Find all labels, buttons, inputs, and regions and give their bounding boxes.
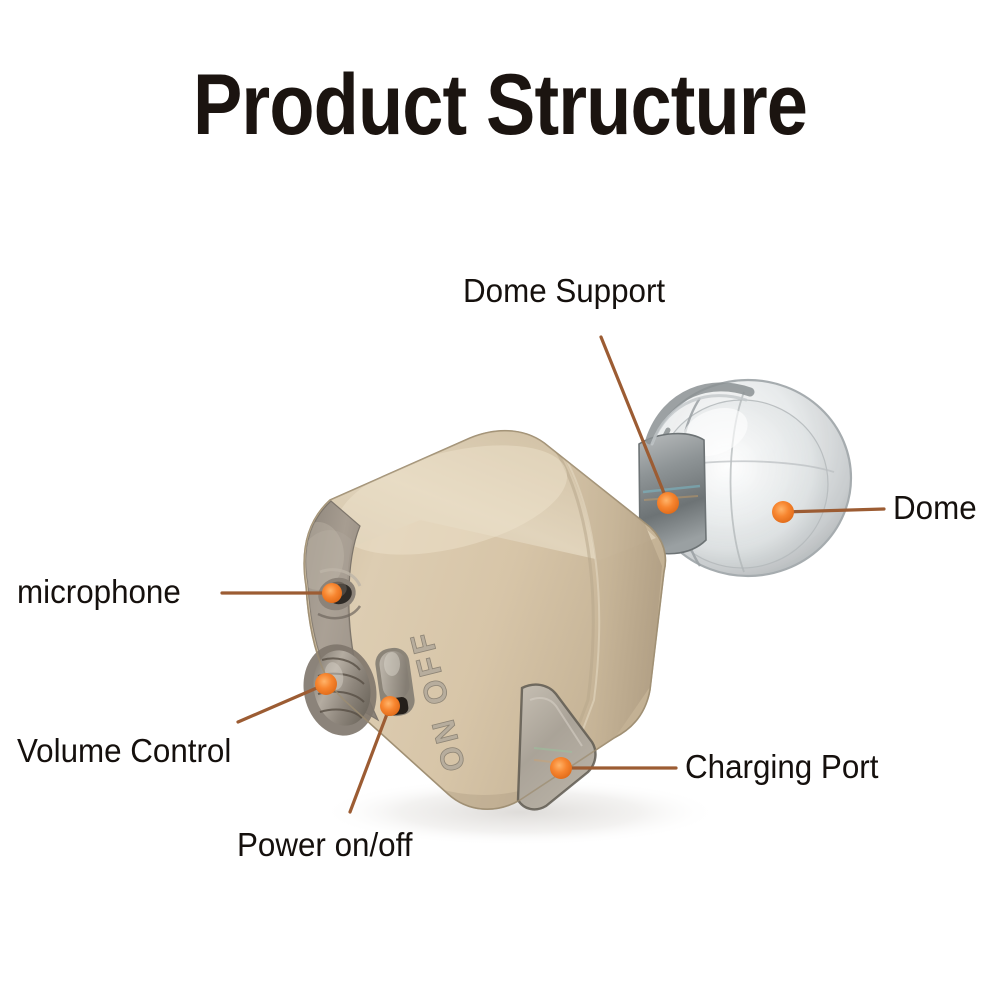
label-microphone: microphone [17,575,181,608]
dome-part [645,380,851,576]
device-body: ON OFF [288,425,665,824]
dome-support-part [639,387,750,554]
charging-port[interactable] [518,685,595,810]
callout-dot-dome [772,501,794,523]
callout-dot-volume [315,673,337,695]
label-volume-control: Volume Control [17,734,231,767]
label-dome-support: Dome Support [463,274,665,307]
power-switch[interactable] [373,646,416,718]
product-structure-diagram: Product Structure [0,0,1000,1000]
callout-dot-dome-support [657,492,679,514]
leader-line-dome [783,509,884,512]
callout-dot-charging-port [550,757,572,779]
callout-dot-microphone [322,583,342,603]
on-off-legend-text: ON OFF [402,626,472,775]
label-dome: Dome [893,491,977,524]
callout-dot-power [380,696,400,716]
label-charging-port: Charging Port [685,750,878,783]
leader-line-power [350,706,390,812]
page-title: Product Structure [70,62,930,148]
volume-control-wheel[interactable] [295,638,385,743]
label-power-on-off: Power on/off [237,828,412,861]
callout-dots [315,492,794,779]
callout-leader-lines [222,337,884,812]
leader-line-dome-support [601,337,668,503]
leader-line-volume-control [238,684,326,722]
microphone-port [314,570,360,618]
on-off-legend: ON OFF [402,626,472,775]
